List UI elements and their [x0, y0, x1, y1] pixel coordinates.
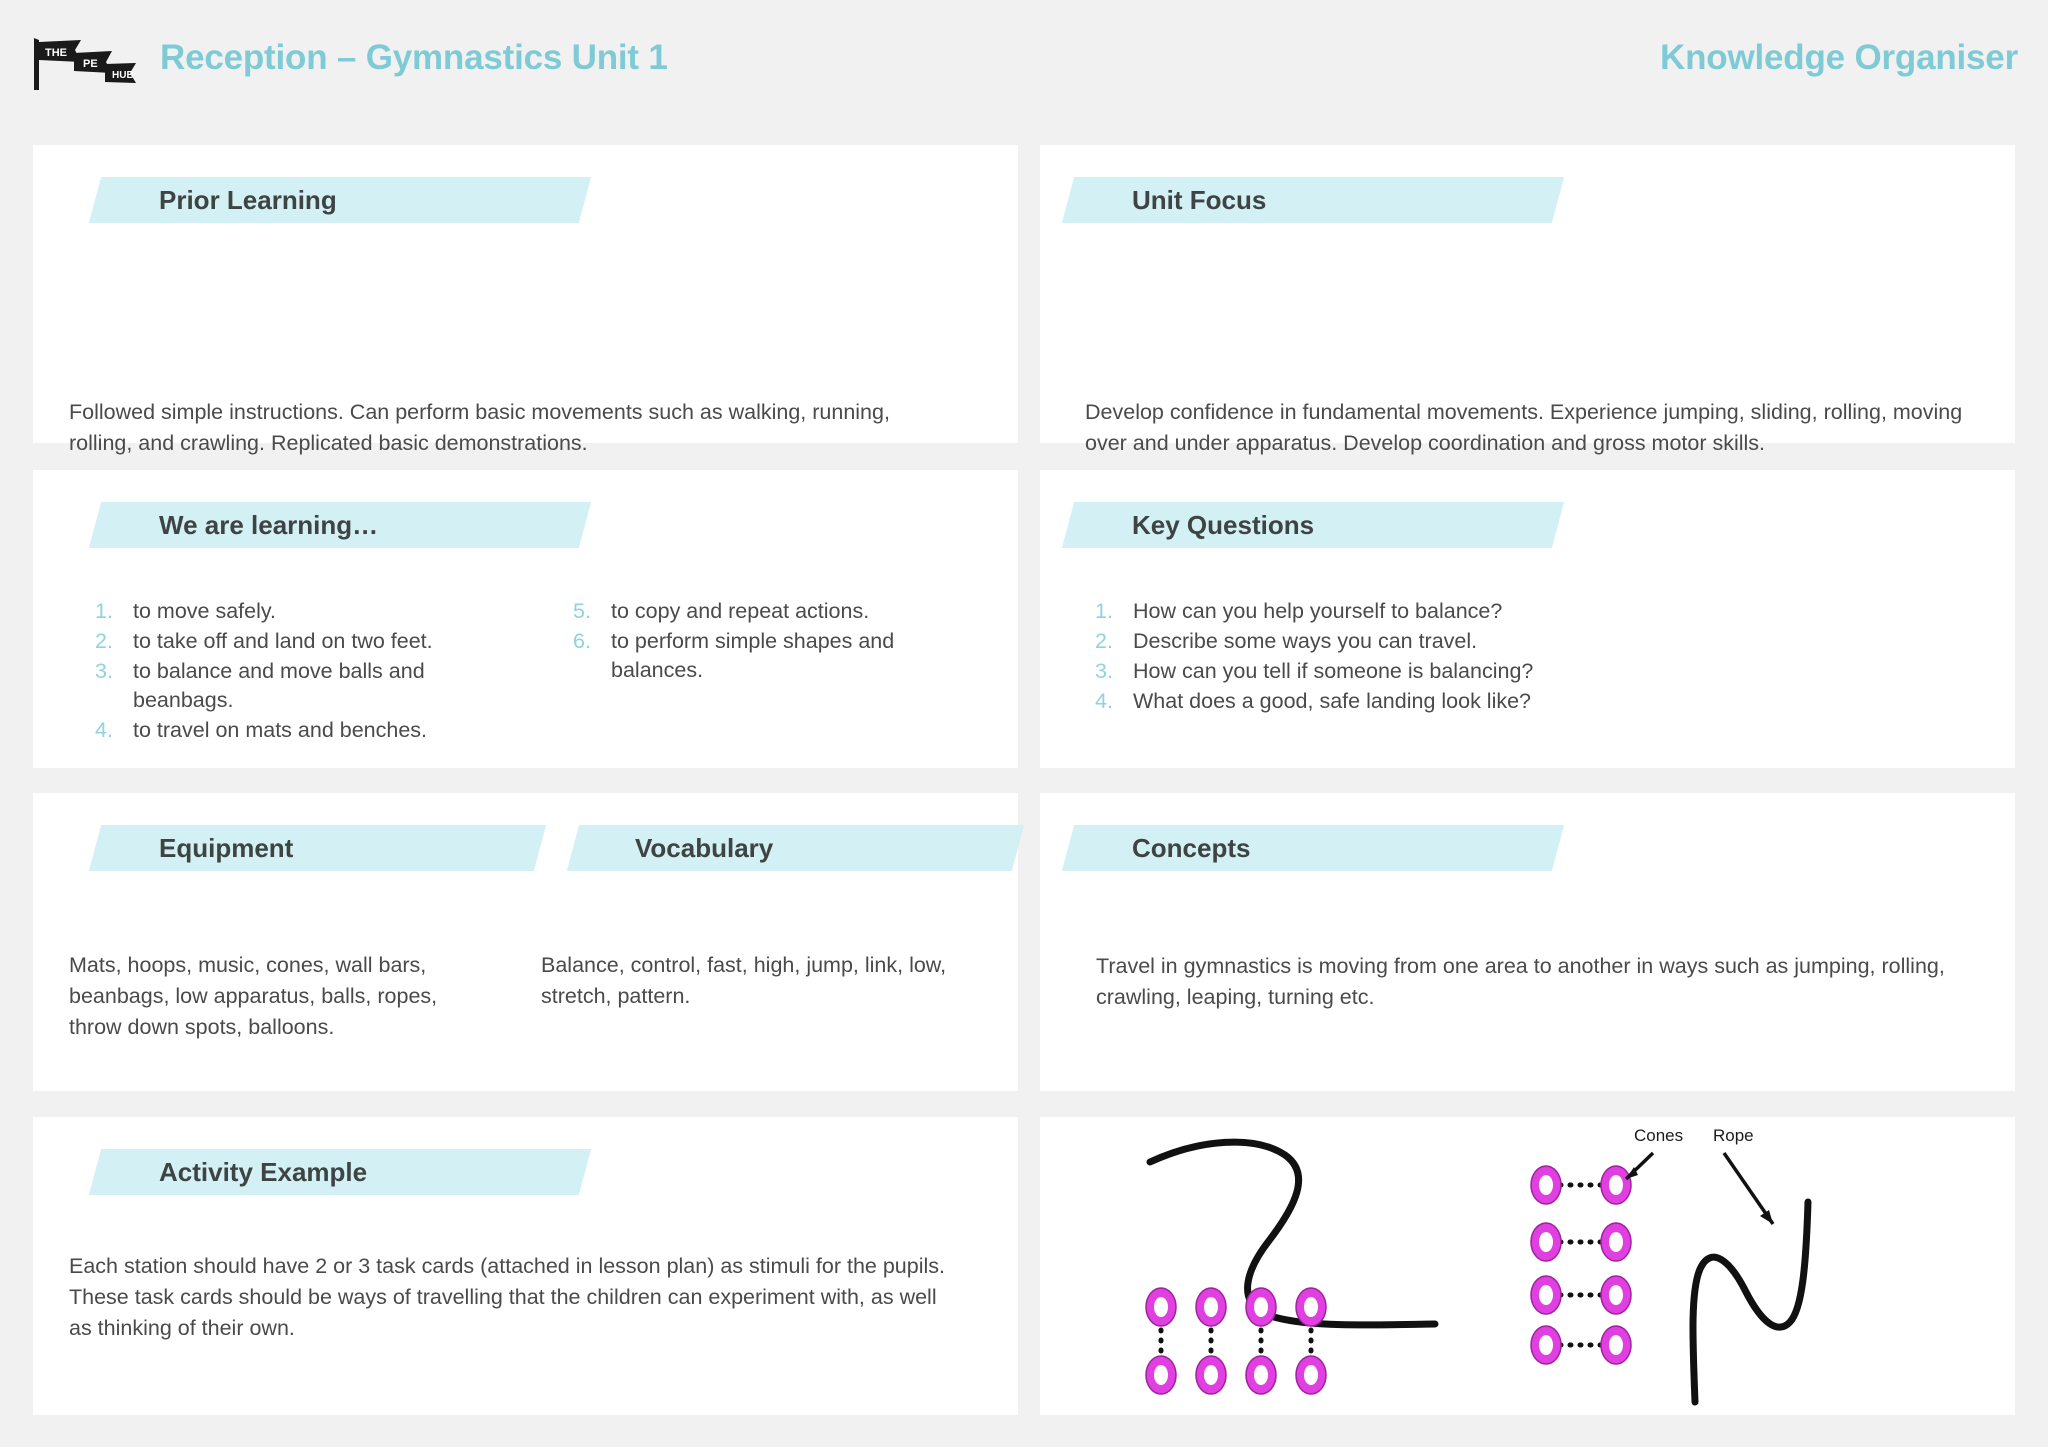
list-item-number: 4. — [1095, 687, 1133, 716]
banner-concepts: Concepts — [1062, 825, 1564, 871]
card-concepts: Concepts Travel in gymnastics is moving … — [1040, 793, 2015, 1091]
activity-layout-diagram: Cones Rope — [1040, 1117, 2015, 1415]
text-concepts: Travel in gymnastics is moving from one … — [1096, 951, 1986, 1013]
cone-pair-group-vertical — [1146, 1288, 1326, 1394]
list-item-label: to perform simple shapes and balances. — [611, 627, 921, 685]
banner-prior-learning: Prior Learning — [89, 177, 591, 223]
list-item-number: 3. — [1095, 657, 1133, 686]
list-item-label: How can you help yourself to balance? — [1133, 597, 1502, 626]
list-item: 1. to move safely. — [95, 597, 525, 626]
text-prior-learning: Followed simple instructions. Can perfor… — [69, 397, 909, 459]
list-item: 3. How can you tell if someone is balanc… — [1095, 657, 1895, 686]
banner-key-questions: Key Questions — [1062, 502, 1564, 548]
list-item-number: 1. — [1095, 597, 1133, 626]
heading-concepts: Concepts — [1068, 825, 1558, 871]
card-unit-focus: Unit Focus Develop confidence in fundame… — [1040, 145, 2015, 443]
heading-unit-focus: Unit Focus — [1068, 177, 1558, 223]
page-title: Reception – Gymnastics Unit 1 — [160, 38, 668, 78]
knowledge-organiser-page: THE PE HUB Reception – Gymnastics Unit 1… — [0, 0, 2048, 1447]
list-item-number: 2. — [95, 627, 133, 656]
list-item-number: 2. — [1095, 627, 1133, 656]
heading-vocabulary: Vocabulary — [573, 825, 1018, 871]
text-activity-example: Each station should have 2 or 3 task car… — [69, 1251, 959, 1344]
list-item-number: 3. — [95, 657, 133, 686]
text-vocabulary: Balance, control, fast, high, jump, link… — [541, 950, 961, 1012]
list-item: 2. Describe some ways you can travel. — [1095, 627, 1895, 656]
card-prior-learning: Prior Learning Followed simple instructi… — [33, 145, 1018, 443]
list-item-number: 1. — [95, 597, 133, 626]
banner-we-are-learning: We are learning… — [89, 502, 591, 548]
list-item-number: 5. — [573, 597, 611, 626]
card-equipment-vocabulary: Equipment Vocabulary Mats, hoops, music,… — [33, 793, 1018, 1091]
banner-equipment: Equipment — [89, 825, 546, 871]
heading-activity-example: Activity Example — [95, 1149, 585, 1195]
list-item-number: 6. — [573, 627, 611, 656]
heading-equipment: Equipment — [95, 825, 540, 871]
heading-prior-learning: Prior Learning — [95, 177, 585, 223]
list-item: 5. to copy and repeat actions. — [573, 597, 953, 626]
text-unit-focus: Develop confidence in fundamental moveme… — [1085, 397, 1990, 459]
svg-text:PE: PE — [83, 58, 98, 70]
list-item-label: to balance and move balls and beanbags. — [133, 657, 433, 715]
banner-unit-focus: Unit Focus — [1062, 177, 1564, 223]
list-item: 4. to travel on mats and benches. — [95, 716, 525, 745]
list-item-label: to take off and land on two feet. — [133, 627, 433, 656]
banner-activity-example: Activity Example — [89, 1149, 591, 1195]
page-header: THE PE HUB Reception – Gymnastics Unit 1… — [0, 0, 2048, 132]
list-item: 2. to take off and land on two feet. — [95, 627, 525, 656]
list-item-number: 4. — [95, 716, 133, 745]
heading-key-questions: Key Questions — [1068, 502, 1558, 548]
list-item-label: to travel on mats and benches. — [133, 716, 427, 745]
list-we-are-learning-right: 5. to copy and repeat actions. 6. to per… — [573, 597, 953, 686]
rope-curve-left — [1150, 1142, 1435, 1325]
list-item-label: to copy and repeat actions. — [611, 597, 869, 626]
list-item: 3. to balance and move balls and beanbag… — [95, 657, 525, 715]
list-item-label: How can you tell if someone is balancing… — [1133, 657, 1533, 686]
card-activity-diagram: Cones Rope — [1040, 1117, 2015, 1415]
list-item: 6. to perform simple shapes and balances… — [573, 627, 953, 685]
rope-curve-right — [1693, 1202, 1808, 1402]
list-item-label: What does a good, safe landing look like… — [1133, 687, 1531, 716]
cone-pair-group-horizontal — [1531, 1166, 1631, 1364]
list-we-are-learning-left: 1. to move safely. 2. to take off and la… — [95, 597, 525, 746]
list-item: 1. How can you help yourself to balance? — [1095, 597, 1895, 626]
svg-text:HUB: HUB — [112, 70, 134, 81]
card-we-are-learning: We are learning… 1. to move safely. 2. t… — [33, 470, 1018, 768]
list-item-label: to move safely. — [133, 597, 276, 626]
card-key-questions: Key Questions 1. How can you help yourse… — [1040, 470, 2015, 768]
text-equipment: Mats, hoops, music, cones, wall bars, be… — [69, 950, 469, 1043]
diagram-label-cones: Cones — [1634, 1126, 1683, 1145]
banner-vocabulary: Vocabulary — [567, 825, 1024, 871]
list-item-label: Describe some ways you can travel. — [1133, 627, 1477, 656]
the-pe-hub-logo-icon: THE PE HUB — [28, 34, 136, 92]
heading-we-are-learning: We are learning… — [95, 502, 585, 548]
svg-text:THE: THE — [45, 47, 67, 59]
document-type-title: Knowledge Organiser — [1660, 38, 2018, 78]
list-key-questions: 1. How can you help yourself to balance?… — [1095, 597, 1895, 717]
card-activity-example: Activity Example Each station should hav… — [33, 1117, 1018, 1415]
diagram-label-rope: Rope — [1713, 1126, 1754, 1145]
list-item: 4. What does a good, safe landing look l… — [1095, 687, 1895, 716]
